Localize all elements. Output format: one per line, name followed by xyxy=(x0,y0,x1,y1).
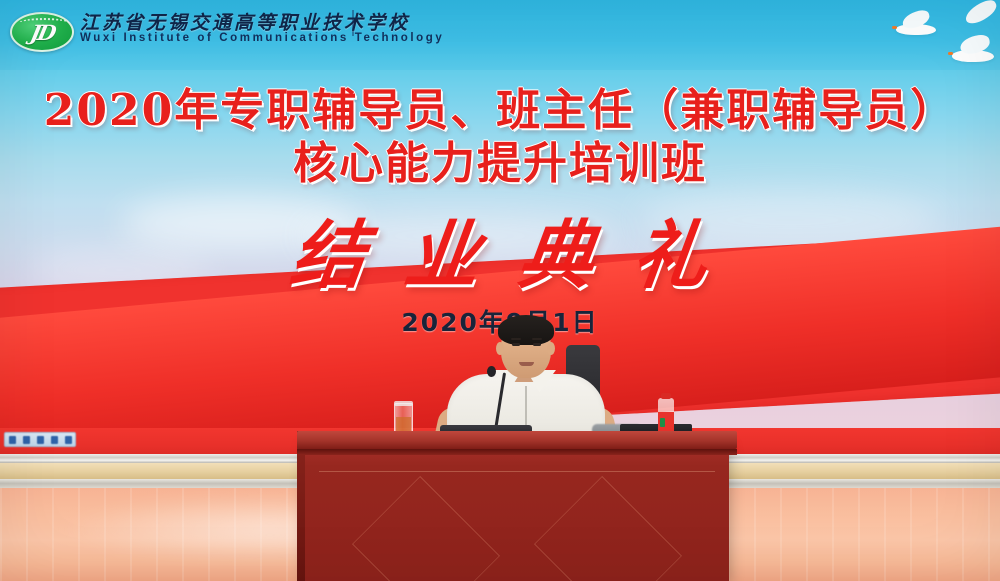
speaker-hair xyxy=(498,315,554,345)
exit-icon xyxy=(9,436,16,444)
speaker-podium xyxy=(305,441,729,581)
school-name-english: Wuxi Institute of Communications Technol… xyxy=(80,32,444,44)
trash-icon xyxy=(51,436,58,444)
podium-front-panel xyxy=(319,471,715,581)
grid-icon xyxy=(65,436,72,444)
podium-diamond-left xyxy=(352,476,500,581)
bottle-cap xyxy=(661,393,671,399)
header-divider xyxy=(352,10,354,36)
school-name-chinese: 江苏省无锡交通高等职业技术学校 xyxy=(80,8,410,35)
school-logo-icon: JD xyxy=(10,12,74,52)
speaker-brow-right xyxy=(532,338,542,340)
podium-top-surface xyxy=(297,431,737,449)
facility-sign xyxy=(4,432,76,447)
banner-title-line-2: 核心能力提升培训班 xyxy=(0,141,1000,188)
microphone-head xyxy=(487,366,496,377)
podium-lip xyxy=(297,449,737,455)
speaker-brow-left xyxy=(511,338,521,340)
speaker-ear-right xyxy=(547,342,555,355)
school-header: JD 江苏省无锡交通高等职业技术学校 Wuxi Institute of Com… xyxy=(0,0,1000,60)
banner-calligraphy-text: 结业典礼 xyxy=(0,196,1000,303)
banner-title-line-1: 2020年专职辅导员、班主任（兼职辅导员） xyxy=(0,88,1000,135)
speaker-eye-right xyxy=(533,343,541,346)
logo-monogram: JD xyxy=(28,20,55,45)
speaker-mouth xyxy=(519,362,534,366)
person-icon xyxy=(37,436,44,444)
podium-diamond-right xyxy=(534,476,682,581)
mail-icon xyxy=(23,436,30,444)
bottle-label-mark xyxy=(660,418,665,427)
speaker-ear-left xyxy=(496,342,504,355)
speaker-eye-left xyxy=(512,343,520,346)
banner-title: 2020年专职辅导员、班主任（兼职辅导员） 核心能力提升培训班 xyxy=(0,88,1000,187)
ceremony-stage-photo: 2020年专职辅导员、班主任（兼职辅导员） 核心能力提升培训班 结业典礼 202… xyxy=(0,0,1000,581)
cup-lid xyxy=(394,401,413,406)
